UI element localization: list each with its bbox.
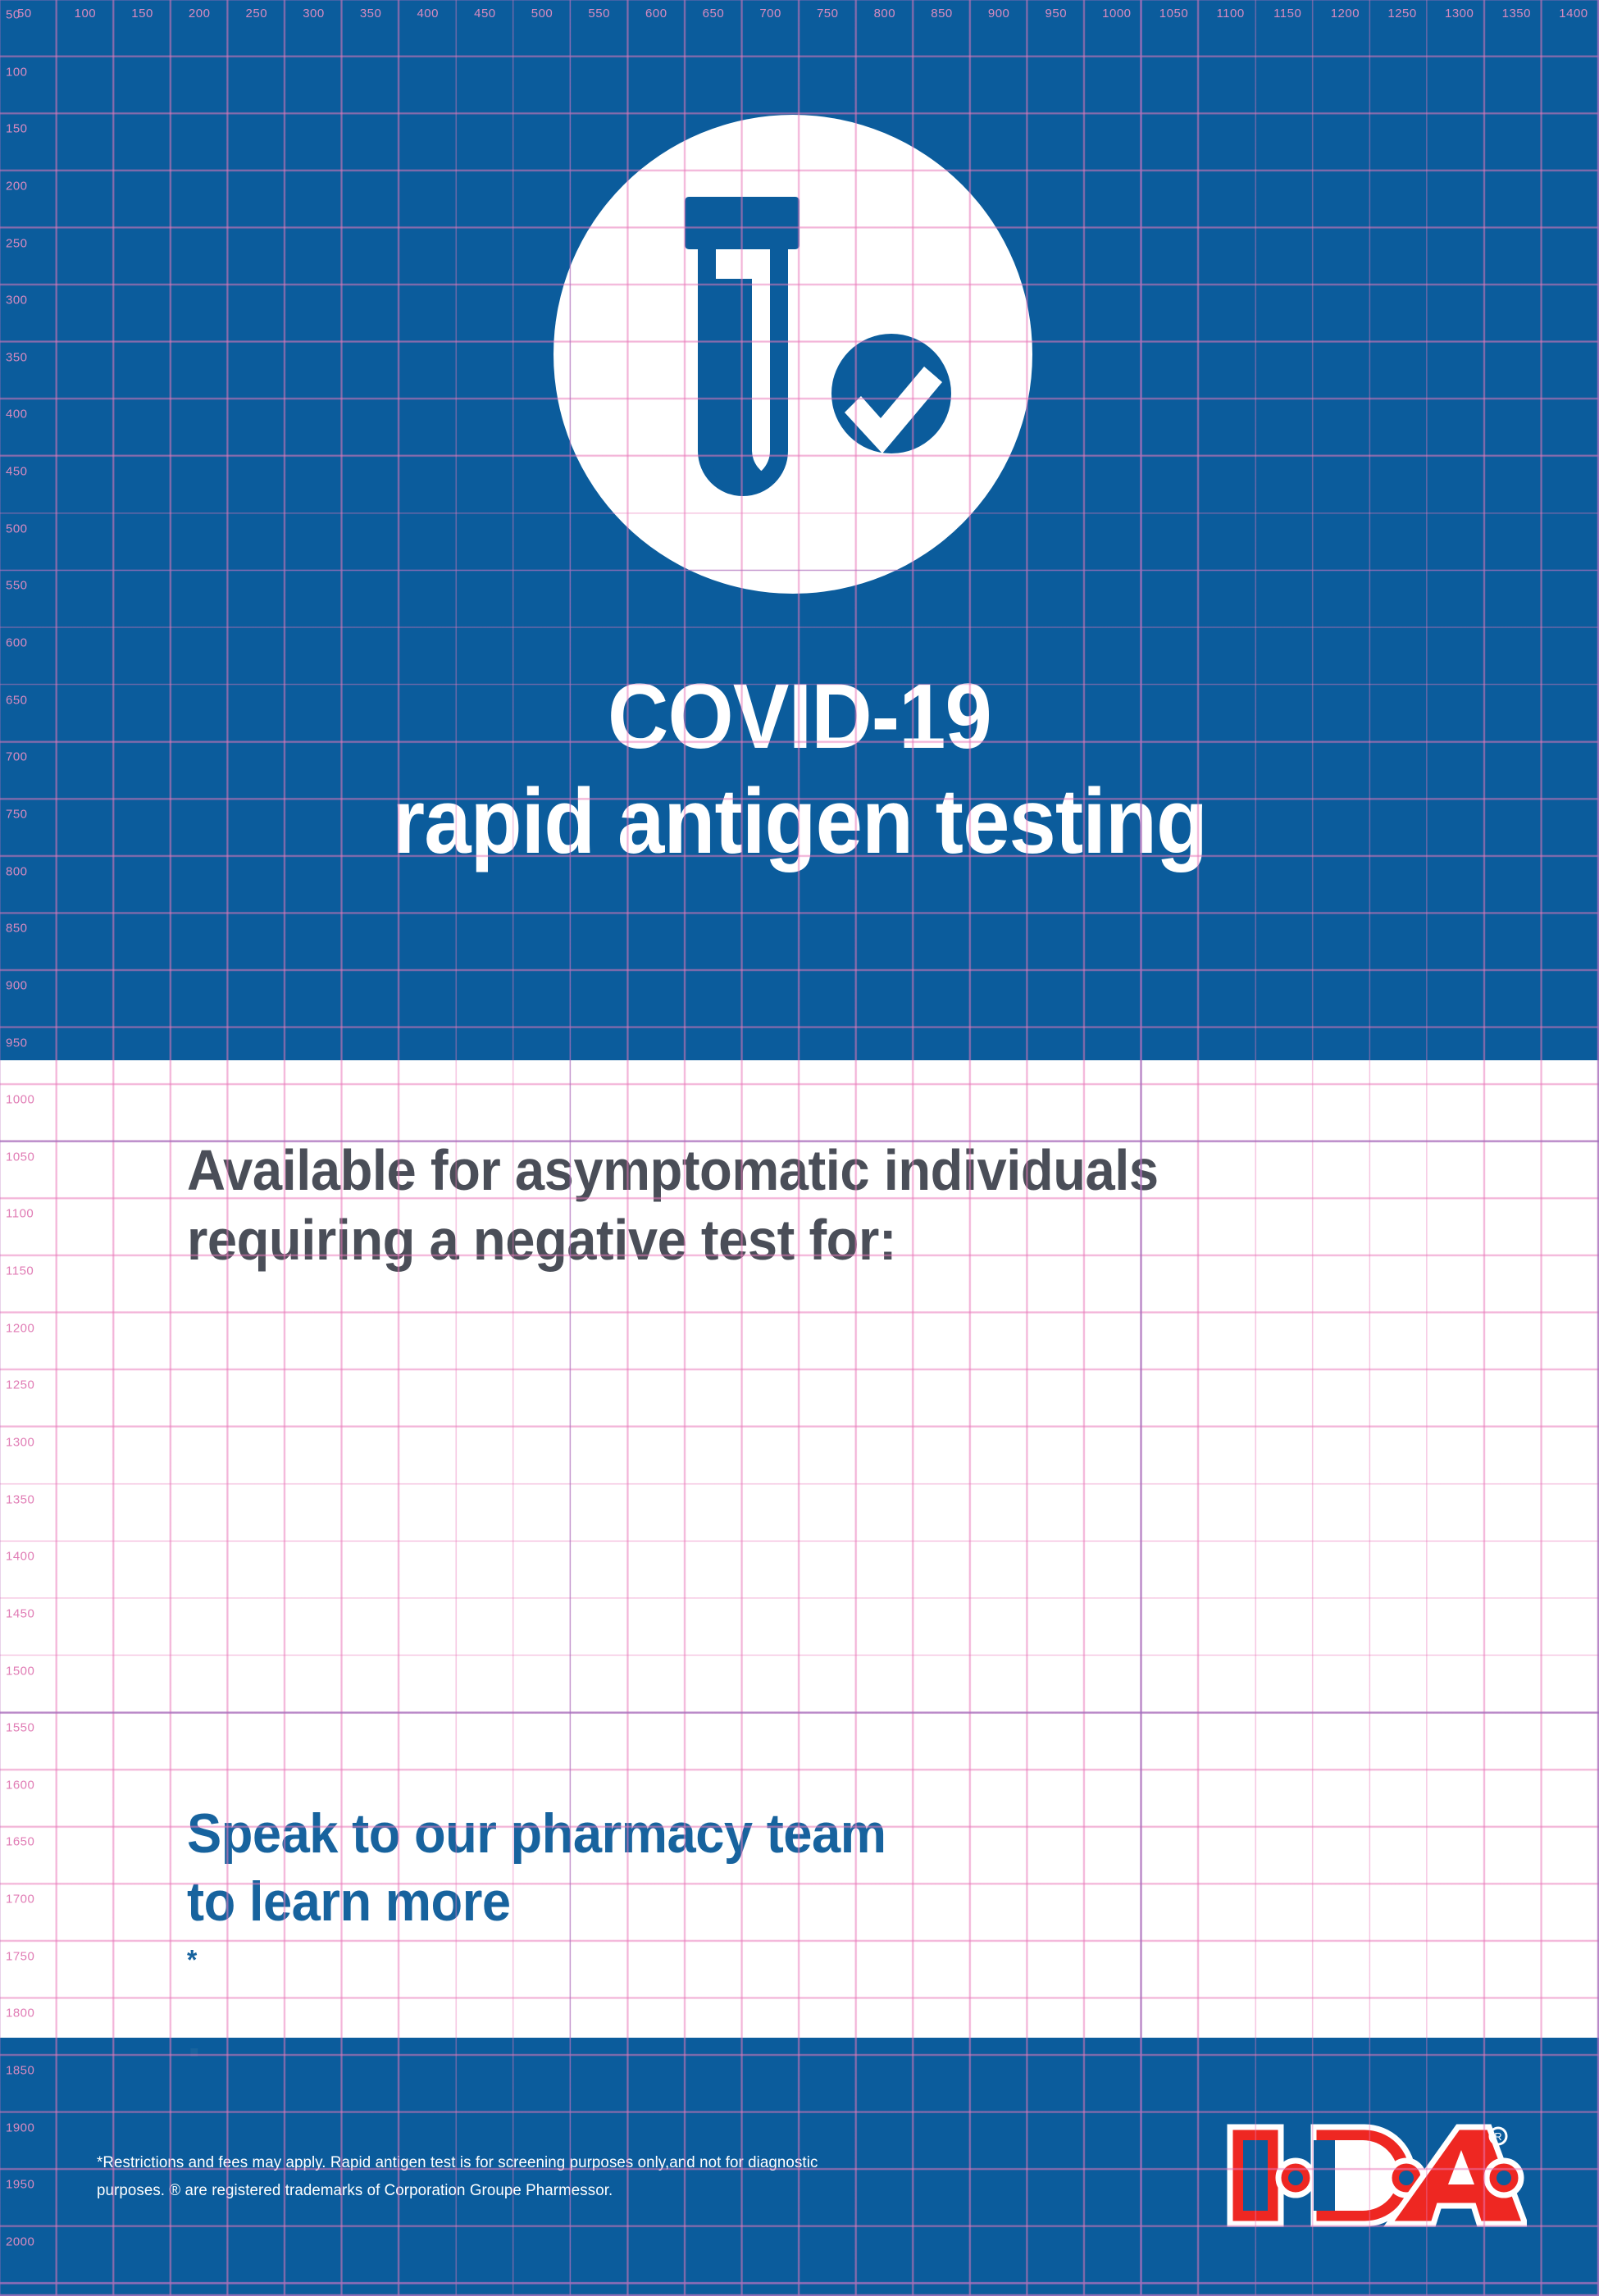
cta-copy: Speak to our pharmacy team to learn more…	[187, 1800, 1194, 2072]
svg-text:R: R	[1494, 2130, 1501, 2143]
cta-line-1: Speak to our pharmacy team	[187, 1800, 1194, 1868]
poster-canvas: COVID-19 rapid antigen testing Available…	[0, 0, 1599, 2296]
disclaimer-line-2: purposes. ® are registered trademarks of…	[97, 2176, 915, 2204]
headline-line-2: rapid antigen testing	[64, 769, 1535, 874]
ida-logo: R	[1215, 2114, 1527, 2237]
disclaimer-line-1: *Restrictions and fees may apply. Rapid …	[97, 2148, 915, 2176]
cta-period: .	[187, 2004, 1194, 2072]
cta-line-2: to learn more*.	[187, 1868, 1194, 2072]
body-line-1: Available for asymptomatic individuals	[187, 1136, 1346, 1205]
body-copy: Available for asymptomatic individuals r…	[187, 1136, 1346, 1276]
footer-disclaimer: *Restrictions and fees may apply. Rapid …	[97, 2148, 915, 2204]
body-line-2: requiring a negative test for:	[187, 1205, 1346, 1275]
cta-line-2-text: to learn more	[187, 1868, 1194, 1936]
cta-asterisk: *	[187, 1944, 197, 1975]
page-title: COVID-19 rapid antigen testing	[64, 664, 1535, 873]
headline-line-1: COVID-19	[64, 664, 1535, 769]
test-tube-with-check-badge-icon	[553, 115, 1032, 594]
